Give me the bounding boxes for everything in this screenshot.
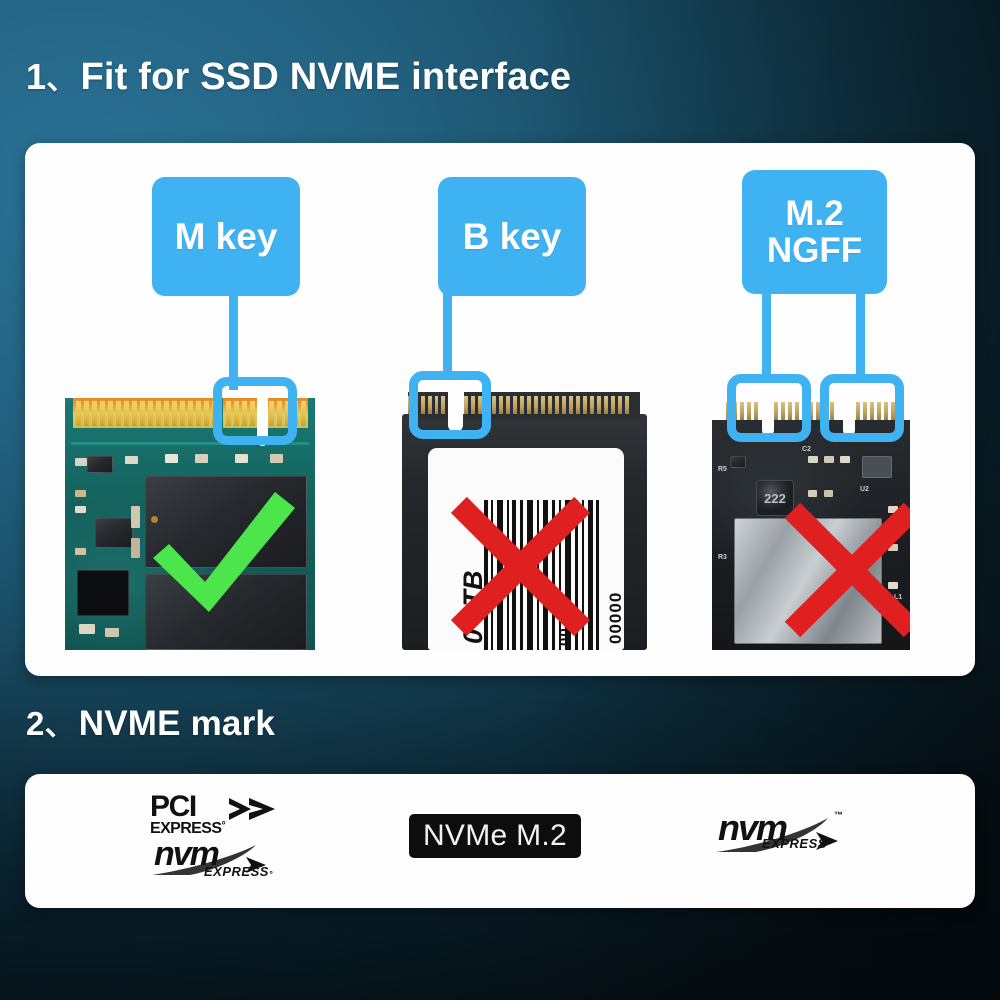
label-digits-right: 00000	[606, 592, 626, 644]
silkscreen-ref-2: C2	[802, 446, 811, 453]
section-2-number: 2	[26, 705, 45, 743]
section-1-title: Fit for SSD NVME interface	[80, 56, 571, 99]
callout-b-key-stem	[443, 292, 452, 372]
smd-cap-11	[131, 538, 140, 558]
pci-express-nvm-logo: PCI EXPRESS ° nvm EXPRESS °	[136, 793, 301, 887]
nvme-m2-text: NVMe M.2	[423, 819, 567, 853]
ngff-ic-1	[862, 456, 892, 478]
nvm-express-mark: °	[269, 869, 273, 879]
section-1-separator: 、	[46, 54, 76, 98]
section-2-separator: 、	[45, 700, 75, 744]
silkscreen-ref-1: R5	[718, 466, 727, 473]
smd-cap-8	[235, 454, 248, 463]
pci-text: PCI	[150, 793, 225, 821]
nvme-m2-badge: NVMe M.2	[409, 814, 581, 858]
callout-m2-ngff-line2: NGFF	[767, 232, 862, 269]
nvm-express-logo-small: nvm EXPRESS °	[154, 839, 273, 879]
cross-icon	[782, 500, 910, 640]
cross-icon	[448, 494, 593, 639]
smd-cap-5	[125, 456, 138, 464]
callout-m2-ngff-line1: M.2	[767, 195, 862, 232]
pci-express-logo: PCI EXPRESS °	[150, 793, 279, 837]
callout-b-key: B key	[438, 177, 586, 296]
smd-cap-3	[75, 506, 86, 513]
section-2-heading: 2 、 NVME mark	[26, 700, 275, 744]
section-1-number: 1	[26, 56, 46, 98]
power-ic	[95, 518, 133, 548]
check-icon	[143, 486, 303, 616]
nvm-express-logo: nvm EXPRESS ™	[718, 812, 866, 868]
express-mark: °	[221, 821, 225, 832]
smd-cap-9	[270, 454, 283, 463]
section-1-heading: 1 、 Fit for SSD NVME interface	[26, 54, 571, 99]
smd-cap-1	[75, 458, 87, 466]
ngff-smd-4	[808, 490, 817, 497]
callout-m-key-stem	[229, 292, 238, 390]
silkscreen-ref-5: U2	[860, 486, 869, 493]
smd-cap-6	[165, 454, 178, 463]
callout-m2-ngff-stem-left	[762, 290, 771, 376]
controller-chip	[87, 456, 113, 473]
nvm-swoosh-icon	[150, 841, 268, 881]
callout-m-key: M key	[152, 177, 300, 296]
smd-cap-10	[131, 506, 140, 528]
pin-group-left	[76, 401, 220, 426]
callout-m-key-label: M key	[175, 217, 278, 256]
callout-b-key-label: B key	[463, 217, 562, 256]
smd-cap-4	[75, 548, 86, 555]
dram-chip	[77, 570, 129, 616]
smd-cap-2	[75, 490, 86, 497]
ngff-smd-5	[824, 490, 833, 497]
nvm-swoosh-icon	[714, 814, 842, 858]
section-2-title: NVME mark	[79, 704, 275, 744]
ngff-smd-1	[808, 456, 818, 463]
b-key-highlight-bracket	[409, 371, 491, 439]
callout-m2-ngff: M.2 NGFF	[742, 170, 887, 294]
smd-cap-12	[79, 624, 95, 634]
ngff-ic-2	[730, 456, 746, 468]
smd-cap-7	[195, 454, 208, 463]
ngff-smd-2	[824, 456, 834, 463]
chevron-arrow-icon	[227, 795, 279, 825]
ngff-highlight-bracket-left	[727, 374, 811, 442]
silkscreen-ref-4: R3	[718, 554, 727, 561]
ngff-highlight-bracket-right	[820, 374, 904, 442]
m-key-highlight-bracket	[213, 377, 297, 445]
smd-cap-13	[105, 628, 119, 637]
callout-m2-ngff-stem-right	[856, 290, 865, 376]
ngff-smd-3	[840, 456, 850, 463]
